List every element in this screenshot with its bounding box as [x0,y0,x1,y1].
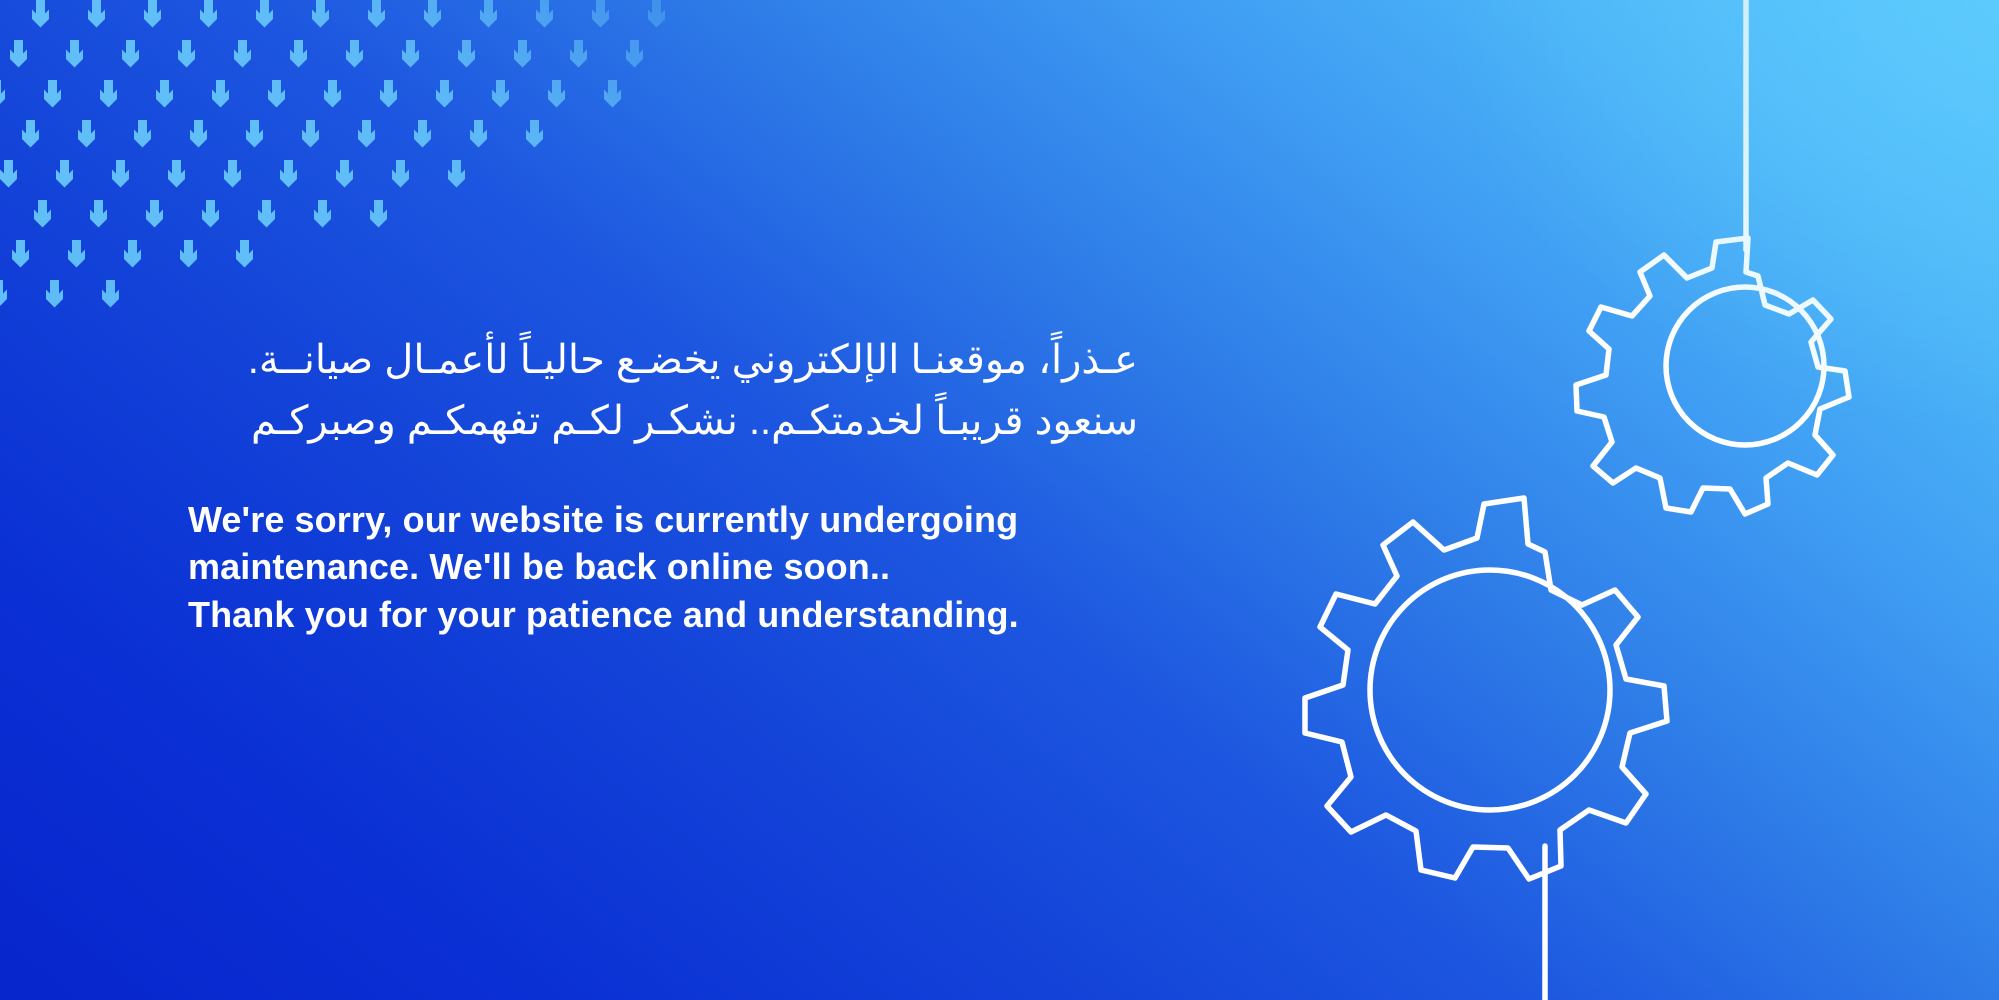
english-message: We're sorry, our website is currently un… [188,496,1188,640]
english-message-line-2: maintenance. We'll be back online soon.. [188,543,1188,591]
maintenance-message: عـذراً، موقعنـا الإلكتروني يخضـع حاليـاً… [188,330,1188,639]
maintenance-page: عـذراً، موقعنـا الإلكتروني يخضـع حاليـاً… [0,0,1999,1000]
chevron-pattern-decoration [0,0,742,336]
english-message-line-1: We're sorry, our website is currently un… [188,496,1188,544]
arabic-message-line-2: سنعود قريبـاً لخدمتكـم.. نشكـر لكـم تفهم… [188,391,1138,452]
arabic-message: عـذراً، موقعنـا الإلكتروني يخضـع حاليـاً… [188,330,1138,452]
gears-decoration [1239,0,1999,1000]
arabic-message-line-1: عـذراً، موقعنـا الإلكتروني يخضـع حاليـاً… [188,330,1138,391]
large-gear-rim [1305,498,1667,879]
english-message-line-3: Thank you for your patience and understa… [188,591,1188,639]
small-gear-hub [1666,287,1824,445]
large-gear-hub [1370,570,1610,810]
small-gear-rim [1576,238,1849,514]
